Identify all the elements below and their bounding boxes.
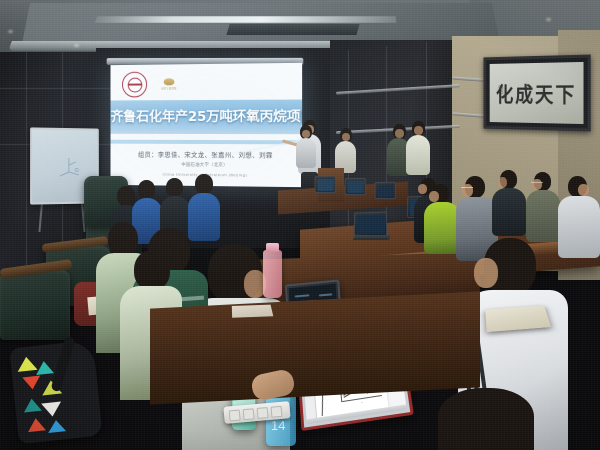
- face: [302, 130, 310, 138]
- laptop: [344, 178, 366, 195]
- face: [429, 191, 439, 202]
- laptop: [314, 176, 336, 193]
- presentation-slide: 化学工程学院 齐鲁石化年产25万吨环氧丙烷项目 组员：李思佳、宋文龙、张嘉州、刘…: [111, 63, 303, 187]
- socket-icon: [257, 407, 269, 419]
- crest-shape: [164, 78, 175, 85]
- laptop-screen: [356, 214, 384, 234]
- seal-bar: [127, 84, 141, 86]
- seated-attendee: [492, 170, 526, 238]
- panel-seam: [26, 52, 27, 282]
- socket-icon: [243, 408, 255, 420]
- pattern-triangle: [47, 419, 66, 433]
- university-seal-logo: [122, 72, 147, 98]
- geometric-pattern-bag: [9, 340, 103, 444]
- projection-screen: 化学工程学院 齐鲁石化年产25万吨环氧丙烷项目 组员：李思佳、宋文龙、张嘉州、刘…: [111, 63, 303, 187]
- laptop-screen: [377, 184, 393, 196]
- crest-caption: 化学工程学院: [161, 86, 176, 90]
- slide-organization: 中国石油大学（北京）: [111, 161, 303, 169]
- face: [578, 184, 589, 196]
- socket-icon: [229, 409, 241, 421]
- head: [166, 178, 183, 197]
- laptop-lid: [354, 212, 387, 237]
- laptop: [352, 212, 388, 236]
- whiteboard-sketch: [56, 156, 81, 178]
- pattern-triangle: [41, 402, 62, 418]
- slide-accent-rule: [111, 140, 303, 145]
- head: [138, 180, 155, 199]
- head: [195, 174, 213, 194]
- panel-seam: [0, 88, 112, 89]
- bottle-number-label: 14: [271, 418, 285, 433]
- head: [134, 250, 170, 290]
- face: [414, 126, 423, 135]
- laptop-lid: [315, 176, 336, 193]
- laptop-screen: [317, 178, 333, 190]
- conference-chair: [0, 270, 70, 340]
- screen-text-line: [295, 294, 310, 297]
- chart-axis-label: x: [361, 402, 362, 404]
- papers-on-desk: [232, 305, 273, 318]
- pattern-triangle: [22, 376, 41, 391]
- gold-crest-logo: 化学工程学院: [156, 73, 182, 95]
- cove-light-strip: [95, 16, 397, 22]
- calligraphy-text: 化成天下: [496, 77, 576, 108]
- seated-attendee: [526, 172, 560, 244]
- laptop: [374, 182, 396, 199]
- laptop-lid: [375, 182, 396, 199]
- downlight-icon: [546, 18, 551, 21]
- eyeglasses-icon: [461, 187, 473, 191]
- face: [395, 129, 404, 138]
- pattern-triangle: [23, 398, 42, 413]
- downlight-icon: [8, 30, 13, 33]
- laptop-screen: [347, 180, 363, 192]
- face: [342, 133, 350, 141]
- face: [474, 258, 498, 288]
- pink-water-bottle: [263, 250, 282, 298]
- laptop-lid: [345, 178, 366, 195]
- bottle-cap: [266, 243, 279, 252]
- slide-title: 齐鲁石化年产25万吨环氧丙烷项目: [111, 105, 303, 125]
- torso: [424, 202, 460, 254]
- pattern-triangle: [27, 417, 46, 432]
- eyeglasses-icon: [531, 182, 543, 186]
- pattern-triangle: [35, 360, 54, 375]
- socket-icon: [271, 406, 283, 418]
- air-vent: [226, 24, 359, 35]
- downlight-icon: [74, 44, 79, 47]
- torso: [296, 138, 316, 168]
- seated-attendee-green-shirt: [424, 184, 460, 256]
- calligraphy-paper: 化成天下 题记: [490, 62, 584, 124]
- torso: [492, 188, 526, 236]
- torso: [406, 135, 430, 175]
- calligraphy-artwork-frame: 化成天下 题记: [483, 54, 590, 131]
- laptop-base: [353, 235, 392, 240]
- face: [498, 177, 507, 188]
- head: [438, 388, 534, 450]
- conference-room-photo: 化成天下 题记 化学工程学院 齐鲁石化年产25万吨环氧丙烷项目 组员：李思佳、宋…: [0, 0, 600, 450]
- calligraphy-signature: 题记: [496, 85, 504, 97]
- torso: [526, 190, 560, 242]
- screen-text-line: [319, 293, 333, 296]
- seated-attendee-foreground: [420, 388, 600, 450]
